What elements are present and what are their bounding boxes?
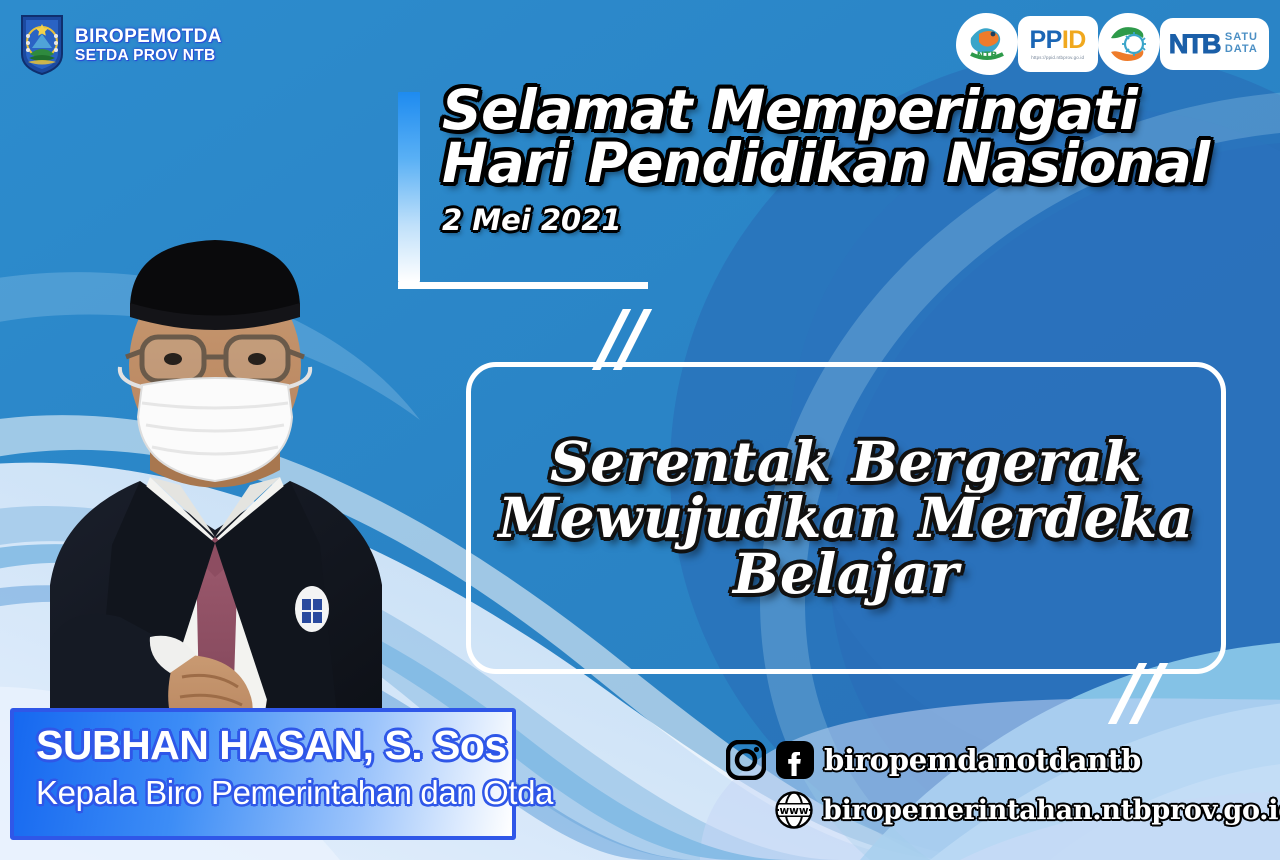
official-portrait [0,185,430,745]
social-handle[interactable]: biropemdanotdantb [824,746,1141,775]
headline-accent-underline [398,282,648,289]
quote-line-2: Mewujudkan Merdeka [471,490,1221,546]
official-name: SUBHAN HASAN, S. Sos [36,724,512,767]
ppid-logo: PPID https://ppid.ntbprov.go.id [1021,19,1095,69]
brand-block: BIROPEMOTDA SETDA PROV NTB [18,14,222,76]
svg-text:NTB: NTB [976,51,997,61]
quote-line-3: Belajar [471,546,1221,602]
poster-canvas: BIROPEMOTDA SETDA PROV NTB NTB PPID http… [0,0,1280,860]
svg-text:www: www [779,805,808,817]
brand-line-1: BIROPEMOTDA [75,26,222,47]
headline-accent-bar [398,92,420,282]
ppid-id-text: ID [1062,26,1086,54]
ppid-subtitle: https://ppid.ntbprov.go.id [1030,55,1086,60]
ntb-satu-data-logo: NTB SATU DATA [1163,21,1266,67]
social-handle-row: biropemdanotdantb [726,740,1271,780]
website-row: www biropemerintahan.ntbprov.go.id [774,790,1271,830]
website-url[interactable]: biropemerintahan.ntbprov.go.id [823,797,1280,824]
instagram-icon[interactable] [726,740,766,780]
headline-line-2: Hari Pendidikan Nasional [442,137,1262,190]
social-block: biropemdanotdantb www biropemerintahan.n… [726,740,1271,830]
headline-date: 2 Mei 2021 [442,206,1262,235]
ppid-pp-text: PP [1030,26,1062,54]
brand-line-2: SETDA PROV NTB [75,47,222,64]
headline-line-1: Selamat Memperingati [442,84,1262,137]
quote-open-mark: // [599,301,641,375]
globe-www-icon[interactable]: www [774,790,814,830]
partner-logo-row: NTB PPID https://ppid.ntbprov.go.id [959,16,1267,72]
quote-text: Serentak Bergerak Mewujudkan Merdeka Bel… [471,434,1221,602]
quote-close-mark: // [1115,655,1157,729]
official-title: Kepala Biro Pemerintahan dan Otda [36,775,512,811]
ntb-satu-data-main: NTB [1169,31,1220,58]
ntb-care-hands-seal-logo [1101,16,1157,72]
ntb-tourism-seal-logo: NTB [959,16,1015,72]
facebook-icon[interactable] [775,740,815,780]
ntb-provincial-crest-icon [18,14,66,76]
quote-line-1: Serentak Bergerak [471,434,1221,490]
name-banner: SUBHAN HASAN, S. Sos Kepala Biro Pemerin… [10,708,516,840]
quote-frame: // Serentak Bergerak Mewujudkan Merdeka … [466,362,1226,674]
ntb-satu-data-sub2: DATA [1225,44,1258,56]
